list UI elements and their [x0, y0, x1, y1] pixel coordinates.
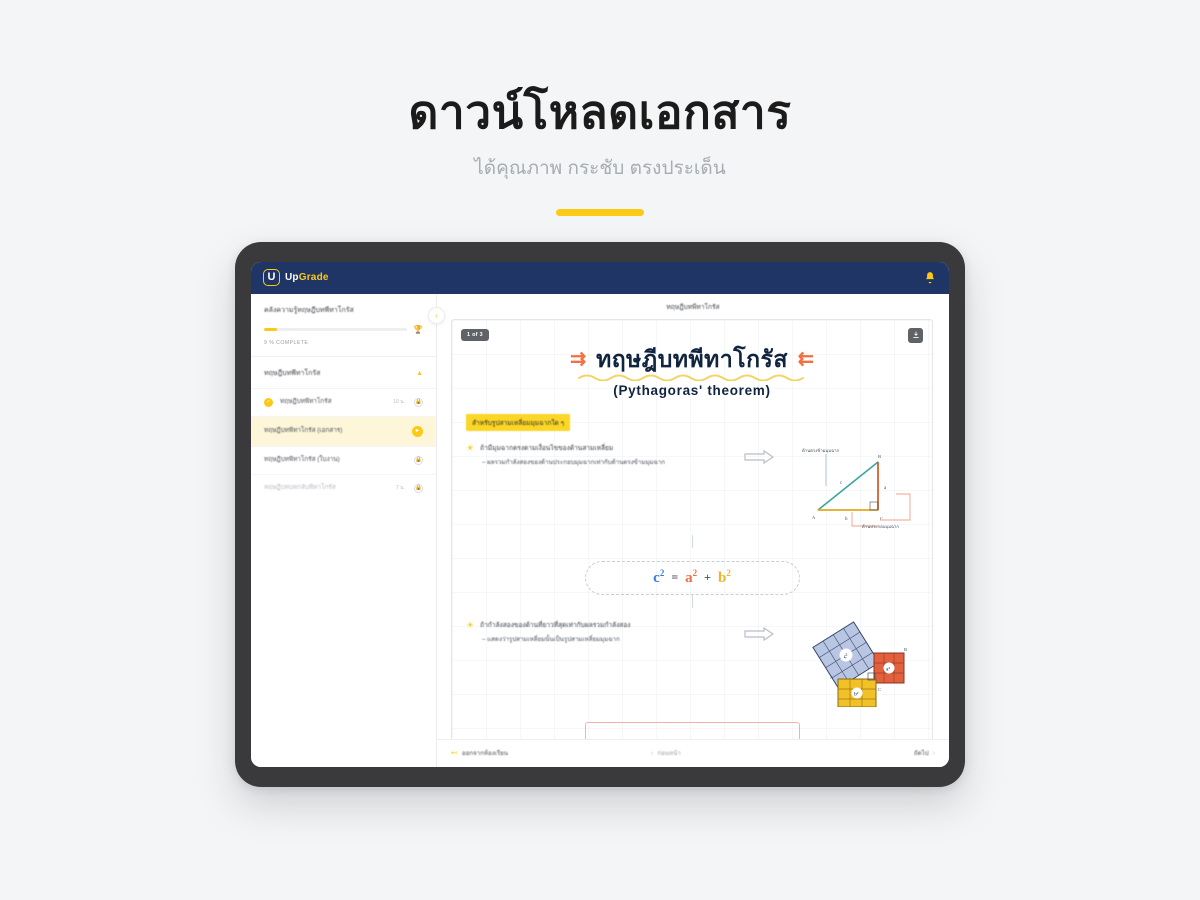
course-sidebar: ‹ คลังความรู้ทฤษฎีบทพีทาโกรัส 🏆 9 % COMP…: [251, 294, 437, 767]
formula-b: b2: [718, 568, 731, 587]
note-title-row: ⇉ ทฤษฎีบทพีทาโกรัส ⇇: [466, 348, 918, 371]
sparkle-icon: ☀: [466, 444, 474, 453]
bell-icon[interactable]: [923, 271, 937, 285]
sidebar-item-lesson-1[interactable]: ✓ ทฤษฎีบทพีทาโกรัส 10 น. 🔒: [251, 388, 436, 416]
brand-word-grade: Grade: [299, 272, 329, 283]
lock-icon: 🔒: [414, 398, 423, 407]
app-body: ‹ คลังความรู้ทฤษฎีบทพีทาโกรัส 🏆 9 % COMP…: [251, 294, 949, 767]
svg-text:ด้านประกอบมุมฉาก: ด้านประกอบมุมฉาก: [862, 524, 899, 530]
course-progress: 🏆: [264, 326, 423, 334]
previous-label: ก่อนหน้า: [657, 748, 680, 758]
formula-box: c2 = a2 + b2: [585, 561, 800, 595]
app-top-bar: U UpGrade: [251, 262, 949, 294]
point-sub-text: – ผลรวมกำลังสองของด้านประกอบมุมฉากเท่ากั…: [482, 458, 718, 467]
connector-line-top: [692, 535, 693, 548]
trophy-icon: 🏆: [413, 326, 423, 334]
accent-divider: [556, 209, 644, 216]
note-title-thai: ทฤษฎีบทพีทาโกรัส: [596, 348, 788, 371]
svg-text:ด้านตรงข้ามมุมฉาก: ด้านตรงข้ามมุมฉาก: [802, 448, 840, 454]
svg-text:A: A: [812, 515, 816, 520]
sidebar-section-header[interactable]: ทฤษฎีบทพีทาโกรัส ▲: [251, 356, 436, 388]
exit-classroom-button[interactable]: ↤ ออกจากห้องเรียน: [451, 748, 651, 758]
svg-text:c: c: [840, 481, 843, 486]
formula-c: c2: [653, 568, 664, 587]
thick-arrow-right-icon: [744, 627, 774, 646]
content-header-title: ทฤษฎีบทพีทาโกรัส: [437, 294, 949, 319]
page-header: ดาวน์โหลดเอกสาร ได้คุณภาพ กระชับ ตรงประเ…: [0, 0, 1200, 216]
point-row-2: ☀ ถ้ากำลังสองของด้านที่ยาวที่สุดเท่ากับผ…: [466, 621, 918, 712]
progress-fill: [264, 328, 277, 331]
svg-text:a²: a²: [886, 666, 890, 672]
point-text-1: ☀ ถ้ามีมุมฉากตรงตามเงื่อนไขของด้านสามเหล…: [466, 444, 718, 467]
progress-label: 9 % COMPLETE: [264, 340, 423, 346]
svg-text:B: B: [878, 454, 881, 459]
formula-equals: =: [671, 570, 678, 585]
point-main-text: ถ้ามีมุมฉากตรงตามเงื่อนไขของด้านสามเหลี่…: [480, 444, 613, 454]
brand-word-up: Up: [285, 272, 299, 283]
document-page: 1 of 3 ⇉ ทฤษฎีบทพีทาโกรัส ⇇: [451, 319, 933, 739]
next-button[interactable]: ถัดไป ›: [914, 748, 935, 758]
sparkle-icon: ☀: [466, 621, 474, 630]
formula-plus: +: [704, 570, 711, 585]
main-content: ทฤษฎีบทพีทาโกรัส 1 of 3 ⇉ ทฤษฎีบทพ: [437, 294, 949, 767]
tablet-mockup-wrapper: U UpGrade ‹ คลังความรู้ทฤษฎีบทพีทาโกรัส: [0, 242, 1200, 787]
lock-icon: 🔒: [414, 456, 423, 465]
course-summary: คลังความรู้ทฤษฎีบทพีทาโกรัส 🏆 9 % COMPLE…: [251, 294, 436, 356]
sidebar-item-lesson-4[interactable]: ทฤษฎีบทบทกลับพีทาโกรัส 7 น. 🔒: [251, 474, 436, 502]
brand-wordmark: UpGrade: [285, 272, 329, 283]
right-triangle-diagram: ด้านตรงข้ามมุมฉาก c a b: [800, 444, 918, 535]
lesson-label: ทฤษฎีบทบทกลับพีทาโกรัส: [264, 484, 389, 493]
formula-a: a2: [685, 568, 697, 587]
arrow-left-mark-icon: ⇇: [798, 350, 814, 369]
next-label: ถัดไป: [914, 748, 929, 758]
highlight-chip: สำหรับรูปสามเหลี่ยมมุมฉากใด ๆ: [466, 414, 570, 431]
arrow-right-mark-icon: ⇉: [570, 350, 586, 369]
tablet-screen: U UpGrade ‹ คลังความรู้ทฤษฎีบทพีทาโกรัส: [251, 262, 949, 767]
thick-arrow-right-icon: [744, 450, 774, 469]
chevron-right-icon: ›: [933, 750, 935, 757]
point-main-text: ถ้ากำลังสองของด้านที่ยาวที่สุดเท่ากับผลร…: [480, 621, 630, 631]
sidebar-item-lesson-3[interactable]: ทฤษฎีบทพีทาโกรัส (ใบงาน) 🔒: [251, 446, 436, 474]
lesson-label: ทฤษฎีบทพีทาโกรัส (ใบงาน): [264, 456, 407, 465]
page-subtitle: ได้คุณภาพ กระชับ ตรงประเด็น: [0, 153, 1200, 183]
course-title: คลังความรู้ทฤษฎีบทพีทาโกรัส: [264, 306, 423, 317]
point-row-1: ☀ ถ้ามีมุมฉากตรงตามเงื่อนไขของด้านสามเหล…: [466, 444, 918, 535]
download-icon[interactable]: [908, 328, 923, 343]
svg-text:C: C: [878, 687, 881, 692]
svg-text:b²: b²: [854, 691, 859, 697]
svg-text:b: b: [845, 517, 848, 522]
point-text-2: ☀ ถ้ากำลังสองของด้านที่ยาวที่สุดเท่ากับผ…: [466, 621, 718, 644]
svg-text:a: a: [884, 486, 887, 491]
check-circle-icon: ✓: [264, 398, 273, 407]
progress-track: [264, 328, 407, 331]
brand-logo[interactable]: U UpGrade: [263, 269, 329, 286]
logo-letter: U: [268, 272, 276, 283]
connector-line-bottom: [692, 595, 693, 608]
pink-outline-box: [585, 722, 800, 739]
lesson-duration: 10 น.: [393, 398, 405, 406]
play-circle-icon: ►: [412, 426, 423, 437]
page-indicator-badge: 1 of 3: [461, 329, 489, 341]
lesson-label: ทฤษฎีบทพีทาโกรัส: [280, 398, 386, 407]
point-sub-text: – แสดงว่ารูปสามเหลี่ยมนั้นเป็นรูปสามเหลี…: [482, 635, 718, 644]
exit-classroom-label: ออกจากห้องเรียน: [462, 748, 508, 758]
page-title: ดาวน์โหลดเอกสาร: [0, 86, 1200, 139]
sidebar-item-lesson-2[interactable]: ทฤษฎีบทพีทาโกรัส (เอกสาร) ►: [251, 416, 436, 446]
three-squares-diagram: c² a²: [800, 621, 918, 712]
sidebar-collapse-icon[interactable]: ‹: [428, 307, 445, 324]
lesson-duration: 7 น.: [396, 484, 405, 492]
lock-icon: 🔒: [414, 484, 423, 493]
lesson-bottom-bar: ↤ ออกจากห้องเรียน ‹ ก่อนหน้า ถัดไป ›: [437, 739, 949, 767]
chevron-up-icon[interactable]: ▲: [416, 370, 423, 377]
document-stage: 1 of 3 ⇉ ทฤษฎีบทพีทาโกรัส ⇇: [437, 319, 949, 739]
tablet-frame: U UpGrade ‹ คลังความรู้ทฤษฎีบทพีทาโกรัส: [235, 242, 965, 787]
sidebar-section-title: ทฤษฎีบทพีทาโกรัส: [264, 368, 320, 379]
logo-mark-icon: U: [263, 269, 280, 286]
note-title-english: (Pythagoras' theorem): [466, 383, 918, 398]
squiggle-underline-icon: [577, 373, 807, 381]
previous-button[interactable]: ‹ ก่อนหน้า: [651, 748, 681, 758]
svg-text:B: B: [904, 647, 907, 652]
chevron-left-icon: ‹: [651, 750, 653, 757]
lesson-label: ทฤษฎีบทพีทาโกรัส (เอกสาร): [264, 427, 405, 436]
exit-arrow-icon: ↤: [451, 749, 457, 757]
